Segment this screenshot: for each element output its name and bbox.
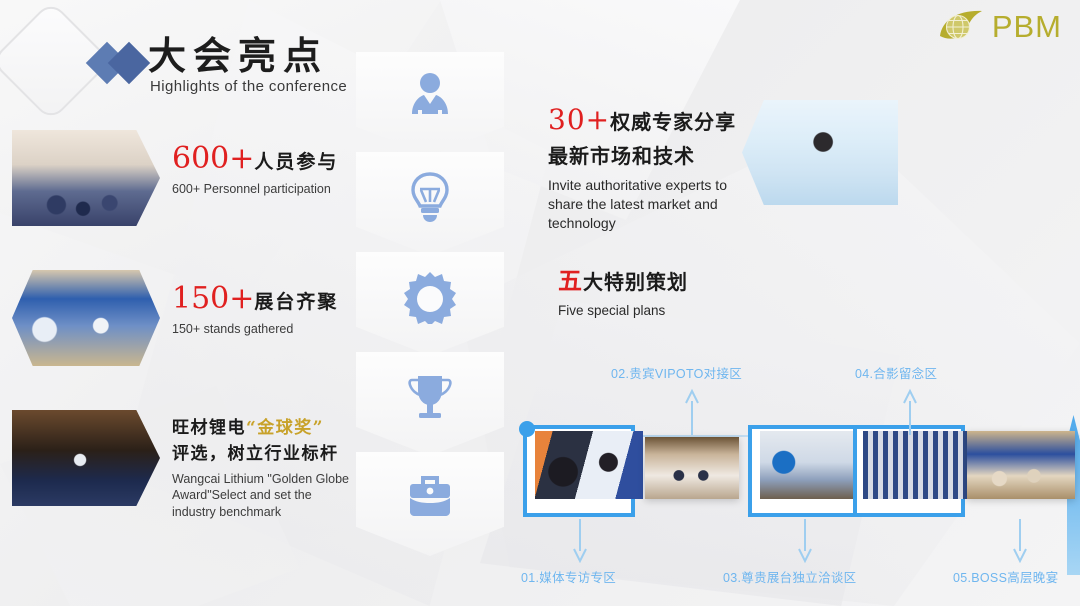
arrow-up-icon	[685, 387, 699, 435]
exhibition-booths-photo	[12, 270, 160, 366]
special-plans-gallery: 01.媒体专访专区 02.贵宾VIPOTO对接区 03.尊贵展台独立洽谈区 04…	[505, 345, 1080, 606]
page-title-block: 大会亮点 Highlights of the conference	[92, 34, 347, 95]
gallery-node-dot	[519, 421, 535, 437]
experts-headline-cn: 30+权威专家分享最新市场和技术	[548, 98, 748, 172]
vip-lounge-photo	[645, 437, 739, 499]
arrow-down-icon	[1013, 519, 1027, 563]
award-headline-cn: 旺材锂电“金球奖” 评选，树立行业标杆	[172, 416, 358, 467]
title-diamond-icon	[92, 42, 150, 90]
stat-row-stands: 150+展台齐聚 150+ stands gathered	[0, 270, 360, 410]
plans-label-en: Five special plans	[558, 302, 788, 320]
stat-label-en: 600+ Personnel participation	[172, 181, 358, 198]
award-ceremony-photo	[12, 410, 160, 506]
award-line2: 评选，树立行业标杆	[172, 444, 339, 464]
page-title-cn: 大会亮点	[148, 34, 347, 78]
arrow-down-icon	[798, 519, 812, 563]
logo-text: PBM	[992, 9, 1062, 45]
gear-icon	[402, 268, 458, 324]
stat-headline: 600+人员参与	[172, 142, 358, 175]
stat-row-award: 旺材锂电“金球奖” 评选，树立行业标杆 Wangcai Lithium "Gol…	[0, 410, 360, 550]
experts-label-en: Invite authoritative experts to share th…	[548, 176, 748, 232]
left-stats-column: 600+人员参与 600+ Personnel participation 15…	[0, 130, 360, 550]
center-icon-strip	[356, 52, 504, 552]
stat-label-en: 150+ stands gathered	[172, 321, 358, 338]
special-plans-block: 五大特别策划 Five special plans	[558, 262, 788, 320]
media-interview-photo	[535, 431, 643, 499]
stat-label-cn: 人员参与	[254, 151, 338, 173]
plans-headline-cn: 五大特别策划	[558, 262, 788, 299]
award-label-en: Wangcai Lithium "Golden Globe Award"Sele…	[172, 471, 358, 520]
arrow-down-icon	[573, 519, 587, 563]
stat-headline: 150+展台齐聚	[172, 282, 358, 315]
plans-label-cn: 大特别策划	[583, 270, 688, 294]
chevron-panel-trophy	[356, 352, 504, 456]
plans-number: 五	[558, 266, 583, 295]
briefcase-icon	[402, 468, 458, 524]
experts-number: 30+	[548, 103, 610, 136]
gallery-label-02: 02.贵宾VIPOTO对接区	[611, 363, 742, 382]
trophy-icon	[402, 368, 458, 424]
award-line1-prefix: 旺材锂电	[172, 418, 246, 438]
group-photo	[863, 431, 973, 499]
chevron-panel-briefcase	[356, 452, 504, 556]
stat-row-personnel: 600+人员参与 600+ Personnel participation	[0, 130, 360, 270]
stat-number: 600+	[172, 141, 254, 176]
premium-booth-photo	[760, 431, 868, 499]
chevron-panel-gear	[356, 252, 504, 356]
chevron-panel-person	[356, 52, 504, 156]
page-title-en: Highlights of the conference	[150, 78, 347, 95]
speaker-photo	[742, 100, 898, 205]
lightbulb-icon	[402, 168, 458, 224]
globe-leaf-icon	[936, 8, 988, 46]
banquet-photo	[967, 431, 1075, 499]
pbm-logo: PBM	[936, 8, 1062, 46]
stat-number: 150+	[172, 281, 254, 316]
gallery-label-01: 01.媒体专访专区	[521, 567, 616, 586]
stat-label-cn: 展台齐聚	[254, 291, 338, 313]
person-icon	[402, 68, 458, 124]
gallery-label-03: 03.尊贵展台独立洽谈区	[723, 567, 856, 586]
award-line1-gold: “金球奖”	[246, 418, 324, 438]
conference-audience-photo	[12, 130, 160, 226]
experts-block: 30+权威专家分享最新市场和技术 Invite authoritative ex…	[548, 98, 748, 233]
gallery-label-05: 05.BOSS高层晚宴	[953, 567, 1058, 586]
chevron-panel-lightbulb	[356, 152, 504, 256]
gallery-label-04: 04.合影留念区	[855, 363, 937, 382]
arrow-up-icon	[903, 387, 917, 435]
